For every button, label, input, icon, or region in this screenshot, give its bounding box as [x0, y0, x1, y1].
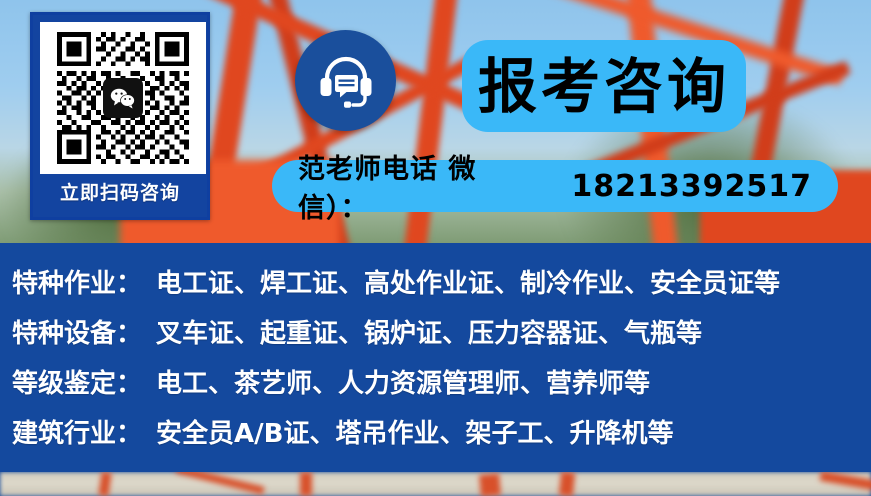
category-row: 特种作业： 电工证、焊工证、高处作业证、制冷作业、安全员证等 — [12, 259, 871, 309]
wechat-logo — [103, 78, 143, 118]
qr-code-card[interactable]: 立即扫码咨询 — [30, 12, 210, 220]
red-post — [300, 472, 312, 496]
promo-poster: 立即扫码咨询 报考咨询 范老师电话 微信）： 18213392517 特 — [0, 0, 871, 496]
category-name: 建筑行业： — [12, 409, 142, 459]
category-row: 建筑行业： 安全员A/B证、塔吊作业、架子工、升降机等 — [12, 409, 871, 459]
page-title: 报考咨询 — [478, 57, 730, 116]
contact-pill[interactable]: 范老师电话 微信）： 18213392517 — [272, 160, 838, 212]
contact-label: 范老师电话 微信）： — [298, 147, 529, 225]
headset-support-icon[interactable] — [295, 30, 396, 131]
category-row: 等级鉴定： 电工、茶艺师、人力资源管理师、营养师等 — [12, 359, 871, 409]
category-name: 特种设备： — [12, 309, 142, 359]
wechat-logo-svg — [110, 87, 136, 109]
ground-blur — [0, 472, 871, 496]
category-items: 电工证、焊工证、高处作业证、制冷作业、安全员证等 — [156, 259, 780, 309]
category-name: 特种作业： — [12, 259, 142, 309]
category-name: 等级鉴定： — [12, 359, 142, 409]
red-post — [479, 473, 501, 496]
headset-icon — [315, 50, 377, 112]
category-banner: 特种作业： 电工证、焊工证、高处作业证、制冷作业、安全员证等 特种设备： 叉车证… — [0, 243, 871, 472]
category-items: 叉车证、起重证、锅炉证、压力容器证、气瓶等 — [156, 309, 702, 359]
category-row: 特种设备： 叉车证、起重证、锅炉证、压力容器证、气瓶等 — [12, 309, 871, 359]
bottom-photo-strip — [0, 472, 871, 496]
contact-phone-number[interactable]: 18213392517 — [571, 169, 812, 204]
category-items: 电工、茶艺师、人力资源管理师、营养师等 — [156, 359, 650, 409]
red-post — [559, 472, 575, 496]
title-pill: 报考咨询 — [462, 40, 746, 132]
category-items: 安全员A/B证、塔吊作业、架子工、升降机等 — [156, 409, 673, 459]
qr-card-caption: 立即扫码咨询 — [40, 174, 200, 216]
qr-code-image[interactable] — [45, 27, 201, 169]
qr-code-frame — [40, 22, 206, 174]
